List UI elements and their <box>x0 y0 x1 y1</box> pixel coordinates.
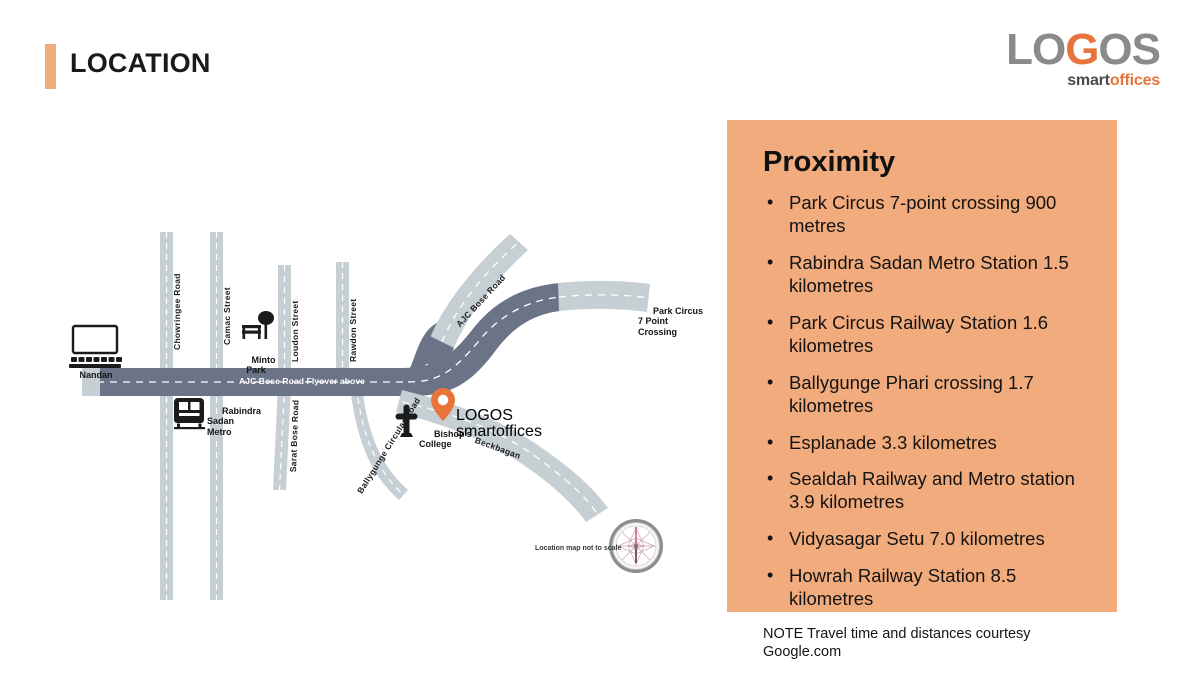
list-item: •Park Circus 7-point crossing 900 metres <box>763 192 1089 238</box>
bullet-icon: • <box>767 251 773 273</box>
metro-train-icon <box>174 398 205 429</box>
list-item: •Vidyasagar Setu 7.0 kilometres <box>763 528 1089 551</box>
park-bench-icon <box>242 311 274 339</box>
slide-root: LOCATION LOGOS smartoffices Proximity •P… <box>0 0 1200 675</box>
map-marker-logo-text: LOGOS smartoffices <box>456 392 542 440</box>
list-item-text: Park Circus Railway Station 1.6 kilometr… <box>789 312 1048 356</box>
proximity-list: •Park Circus 7-point crossing 900 metres… <box>763 192 1089 611</box>
road-park-circus-arm <box>558 281 650 312</box>
brand-logo: LOGOS smartoffices <box>1006 28 1160 89</box>
cinema-icon <box>69 326 122 368</box>
proximity-note: NOTE Travel time and distances courtesy … <box>763 625 1089 662</box>
location-map: .rl{fill:#c5cfd4;} .rd{fill:#6b7387;} .d… <box>30 190 720 600</box>
logo-offices: offices <box>1110 72 1160 89</box>
list-item: •Ballygunge Phari crossing 1.7 kilometre… <box>763 372 1089 418</box>
list-item-text: Vidyasagar Setu 7.0 kilometres <box>789 528 1045 549</box>
proximity-title: Proximity <box>763 146 1089 179</box>
list-item: •Esplanade 3.3 kilometres <box>763 432 1089 455</box>
proximity-panel: Proximity •Park Circus 7-point crossing … <box>727 120 1117 612</box>
logo-lo: LO <box>1006 25 1065 74</box>
list-item: •Park Circus Railway Station 1.6 kilomet… <box>763 312 1089 358</box>
street-sarat-bose-road <box>273 385 291 490</box>
logo-smart: smart <box>1067 72 1110 89</box>
list-item: •Rabindra Sadan Metro Station 1.5 kilome… <box>763 252 1089 298</box>
brand-logo-tagline: smartoffices <box>1006 73 1160 89</box>
bullet-icon: • <box>767 564 773 586</box>
list-item-text: Rabindra Sadan Metro Station 1.5 kilomet… <box>789 252 1069 296</box>
map-marker-logo: LOGOS smartoffices <box>454 392 542 440</box>
road-flyover-west-end <box>82 368 100 396</box>
list-item-text: Sealdah Railway and Metro station 3.9 ki… <box>789 468 1075 512</box>
logo-os: OS <box>1098 25 1160 74</box>
list-item-text: Howrah Railway Station 8.5 kilometres <box>789 565 1016 609</box>
flyover-label: AJC Bose Road Flyover above <box>239 376 365 386</box>
title-accent-bar <box>45 44 56 89</box>
map-svg: .rl{fill:#c5cfd4;} .rd{fill:#6b7387;} .d… <box>30 190 720 600</box>
list-item-text: Ballygunge Phari crossing 1.7 kilometres <box>789 372 1034 416</box>
map-scale-note: Location map not to scale <box>535 545 621 552</box>
list-item-text: Park Circus 7-point crossing 900 metres <box>789 192 1056 236</box>
bullet-icon: • <box>767 191 773 213</box>
page-title: LOCATION <box>70 48 211 79</box>
bullet-icon: • <box>767 431 773 453</box>
bullet-icon: • <box>767 527 773 549</box>
bullet-icon: • <box>767 371 773 393</box>
bullet-icon: • <box>767 467 773 489</box>
list-item: •Howrah Railway Station 8.5 kilometres <box>763 565 1089 611</box>
list-item-text: Esplanade 3.3 kilometres <box>789 432 997 453</box>
logo-g: G <box>1065 25 1098 74</box>
brand-logo-wordmark: LOGOS <box>1006 28 1160 72</box>
bullet-icon: • <box>767 311 773 333</box>
list-item: •Sealdah Railway and Metro station 3.9 k… <box>763 468 1089 514</box>
